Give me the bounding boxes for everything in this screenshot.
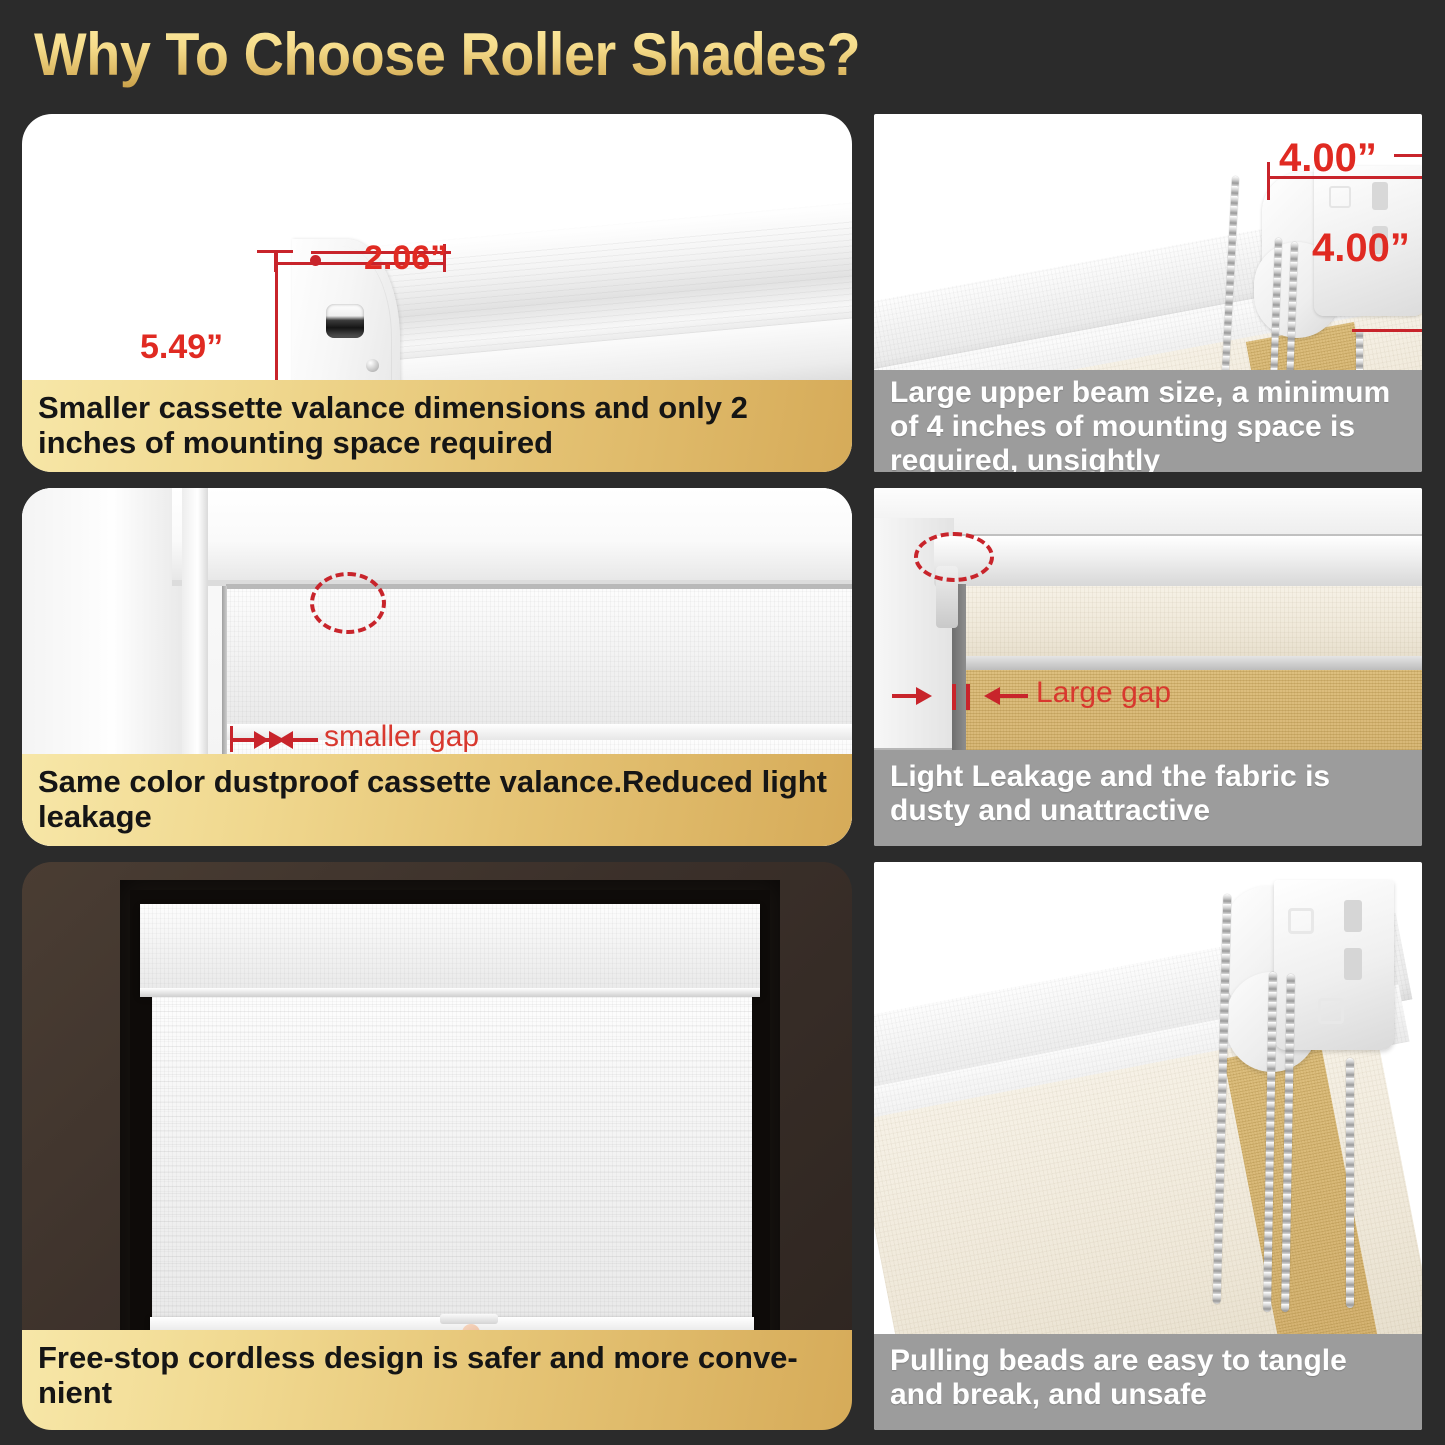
infographic-root: Why To Choose Roller Shades? 2.06 bbox=[0, 0, 1445, 1445]
page-title: Why To Choose Roller Shades? bbox=[34, 20, 860, 89]
panel-cassette-dimensions: 2.06” 5.49” Smaller cassette valance dim… bbox=[22, 114, 852, 472]
panel-caption: Pulling beads are easy to tangle and bre… bbox=[874, 1334, 1422, 1430]
panel-dustproof-valance: smaller gap Same color dustproof cassett… bbox=[22, 488, 852, 846]
gap-label: Large gap bbox=[1036, 676, 1171, 710]
width-dimension-label: 2.06” bbox=[364, 239, 447, 278]
height-dimension-label: 4.00” bbox=[1312, 226, 1410, 271]
panel-caption: Smaller cassette valance dimensions and … bbox=[22, 380, 852, 472]
panel-light-leakage: Large gap Light Leakage and the fabric i… bbox=[874, 488, 1422, 846]
highlight-circle bbox=[310, 572, 386, 634]
height-dimension-label: 5.49” bbox=[140, 328, 223, 367]
panel-cordless-design: Free-stop cordless design is safer and m… bbox=[22, 862, 852, 1430]
panel-caption: Free-stop cordless design is safer and m… bbox=[22, 1330, 852, 1430]
panel-large-upper-beam: 4.00” 4.00” Large upper beam size, a min… bbox=[874, 114, 1422, 472]
highlight-circle bbox=[914, 532, 994, 582]
width-dimension-label: 4.00” bbox=[1279, 136, 1377, 181]
panel-caption: Same color dustproof cassette valance.Re… bbox=[22, 754, 852, 846]
panel-caption: Large upper beam size, a minimum of 4 in… bbox=[874, 370, 1422, 472]
panel-pulling-beads: Pulling beads are easy to tangle and bre… bbox=[874, 862, 1422, 1430]
panel-caption: Light Leakage and the fabric is dusty an… bbox=[874, 750, 1422, 846]
gap-label: smaller gap bbox=[324, 720, 479, 754]
